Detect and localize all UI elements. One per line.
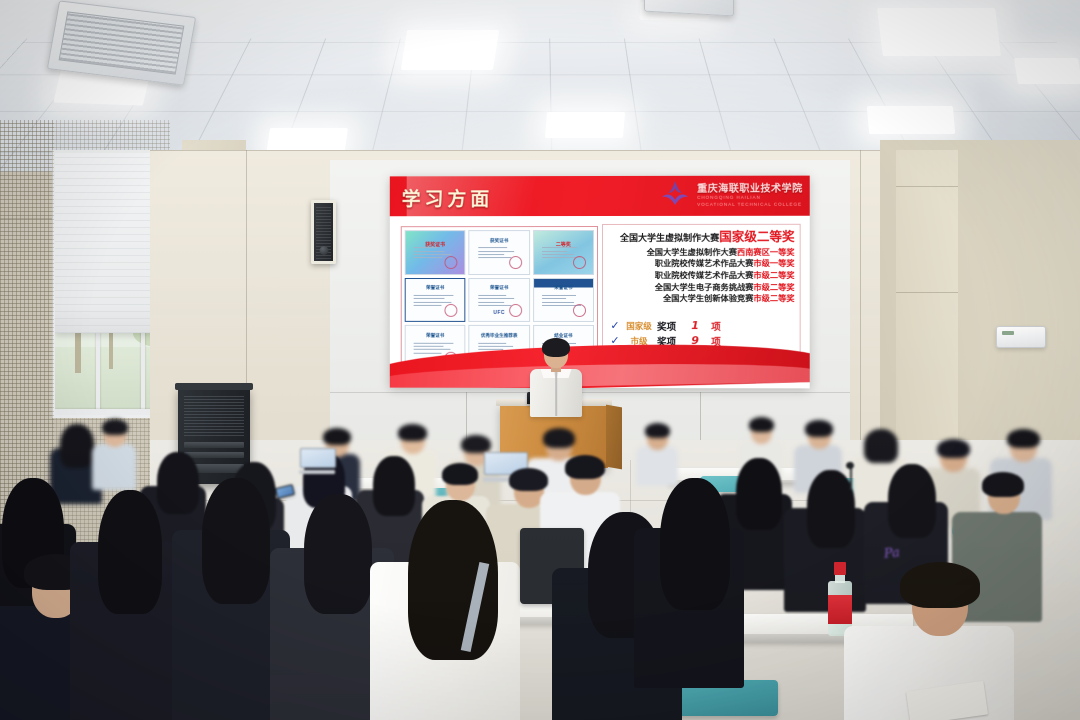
award-event: 全国大学生创新体验竞赛 [663,293,753,303]
led-presentation-screen: 学习方面 重庆海联职业技术学院 CHONGQING HAILIAN VOCATI… [390,176,810,389]
wall-seam [150,150,940,151]
audience-laptop[interactable] [300,448,334,474]
rack-unit [184,452,244,458]
status-led-icon [1002,331,1014,335]
award-line: 职业院校传媒艺术作品大赛市级一等奖 [608,258,795,269]
presenter-person [528,340,584,412]
ceiling-light-panel [545,112,625,138]
shirt-print-text: Pa [883,545,900,562]
right-wall-smooth-column [896,150,958,480]
water-bottle[interactable] [828,562,852,636]
person-hair [442,463,478,485]
person-hair [565,455,605,479]
award-summary-row: ✓国家级奖项1项 [609,318,796,333]
award-level: 市级二等奖 [753,293,794,303]
wall-speaker [311,200,336,264]
mic-head-icon [846,462,854,469]
award-event: 职业院校传媒艺术作品大赛 [655,258,754,268]
certificate-thumbnail: 荣誉证书 [533,278,594,323]
award-scope: 国家级 [626,320,652,332]
logo-text: 重庆海联职业技术学院 CHONGQING HAILIAN VOCATIONAL … [697,179,803,208]
person-hair [398,424,427,441]
certificate-title: 荣誉证书 [534,285,593,291]
college-logo: 重庆海联职业技术学院 CHONGQING HAILIAN VOCATIONAL … [658,179,803,209]
person-hair [660,478,730,610]
college-name-en-2: VOCATIONAL TECHNICAL COLLEGE [697,201,803,208]
stage-panel-seam [330,392,850,393]
speaker-woofer-icon [319,246,328,255]
wall-seam [896,186,958,187]
slide-title: 学习方面 [402,184,494,211]
ceiling-light-panel [1014,58,1080,84]
bottle-label [828,595,852,625]
award-event: 全国大学生虚拟制作大赛 [647,246,737,256]
check-icon: ✓ [609,319,621,332]
certificate-seal-icon [573,256,586,269]
certificate-thumbnail: 荣誉证书 [405,278,466,323]
person-hair [102,419,128,435]
award-level: 西南赛区一等奖 [737,246,795,256]
slide-body: 获奖证书获奖证书二等奖荣誉证书荣誉证书UFC荣誉证书荣誉证书UFC优秀毕业生推荐… [390,216,810,389]
person-hair [982,472,1024,497]
certificate-title: 荣誉证书 [406,333,465,339]
person-hair [749,417,774,432]
laptop-base [299,470,335,474]
wall-mounted-control-unit[interactable] [996,326,1046,348]
certificate-org-mark: UFC [493,310,505,316]
award-word: 奖项 [657,319,679,333]
certificate-thumbnail: 二等奖 [533,230,594,275]
person-body [92,444,136,490]
award-unit: 项 [711,319,721,333]
rack-top [175,383,253,390]
classroom-scene: 学习方面 重庆海联职业技术学院 CHONGQING HAILIAN VOCATI… [0,0,1080,720]
certificate-seal-icon [445,256,458,269]
award-level: 市级二等奖 [753,282,794,292]
college-name-cn: 重庆海联职业技术学院 [697,179,803,194]
person-hair [157,452,199,514]
award-headline: 全国大学生虚拟制作大赛国家级二等奖 [608,229,795,246]
person-hair [937,439,970,458]
person-body [636,446,678,486]
certificate-title: 结业证书 [534,333,593,339]
person-hair [461,435,491,453]
presenter-hair [542,338,570,357]
person-hair [900,562,980,608]
person-hair [509,468,548,491]
laptop-screen [300,448,336,468]
person-hair [304,494,372,614]
ceiling-light-panel [867,106,955,134]
award-line: 全国大学生电子商务挑战赛市级二等奖 [608,282,795,293]
award-event: 全国大学生电子商务挑战赛 [655,282,754,292]
award-headline-highlight: 国家级二等奖 [719,229,794,244]
person-hair [202,478,270,604]
slide-header-banner: 学习方面 重庆海联职业技术学院 CHONGQING HAILIAN VOCATI… [390,176,810,217]
ceiling-light-panel [877,8,1001,56]
certificate-title: 获奖证书 [470,238,529,244]
wall-seam [860,150,861,450]
desk-microphone[interactable] [846,462,854,490]
certificate-seal-icon [573,304,586,317]
certificate-thumbnail: 获奖证书 [405,230,466,275]
award-count: 1 [684,319,706,332]
certificate-seal-icon [445,304,458,317]
rack-vent-mesh [184,396,244,436]
person-hair [98,490,162,614]
person-hair [323,428,351,445]
certificate-thumbnail: 获奖证书 [469,230,530,275]
award-event: 职业院校传媒艺术作品大赛 [655,270,754,280]
certificate-seal-icon [509,256,522,269]
certificate-seal-icon [509,304,522,317]
podium-side-panel [606,405,622,470]
certificate-title: 优秀毕业生推荐表 [470,333,529,339]
person-hair [888,464,936,538]
ac-grille-icon [59,11,185,74]
wall-seam [896,292,958,293]
award-lines: 全国大学生虚拟制作大赛西南赛区一等奖职业院校传媒艺术作品大赛市级一等奖职业院校传… [608,246,795,303]
award-level: 市级一等奖 [753,258,794,268]
person-hair [1007,429,1040,448]
person-hair [645,423,670,438]
bird-logo-icon [658,179,692,209]
person-hair [864,429,898,463]
rack-unit [184,442,244,448]
award-line: 全国大学生创新体验竞赛市级二等奖 [608,293,795,304]
person-hair [373,456,415,516]
award-line: 职业院校传媒艺术作品大赛市级二等奖 [608,270,795,281]
certificate-title: 荣誉证书 [470,285,529,291]
award-level: 市级二等奖 [753,270,794,280]
award-headline-prefix: 全国大学生虚拟制作大赛 [620,234,719,244]
person-hair [60,424,94,468]
certificate-thumbnail: 荣誉证书UFC [469,278,530,323]
certificate-title: 荣誉证书 [406,285,465,291]
person-hair [805,420,833,437]
person-hair [543,428,575,448]
bottle-cap [834,562,846,575]
shirt-placket [555,370,557,416]
award-line: 全国大学生虚拟制作大赛西南赛区一等奖 [608,246,795,257]
ceiling-light-panel [401,30,499,70]
bottle-neck [835,574,845,583]
person-hair [736,458,782,530]
